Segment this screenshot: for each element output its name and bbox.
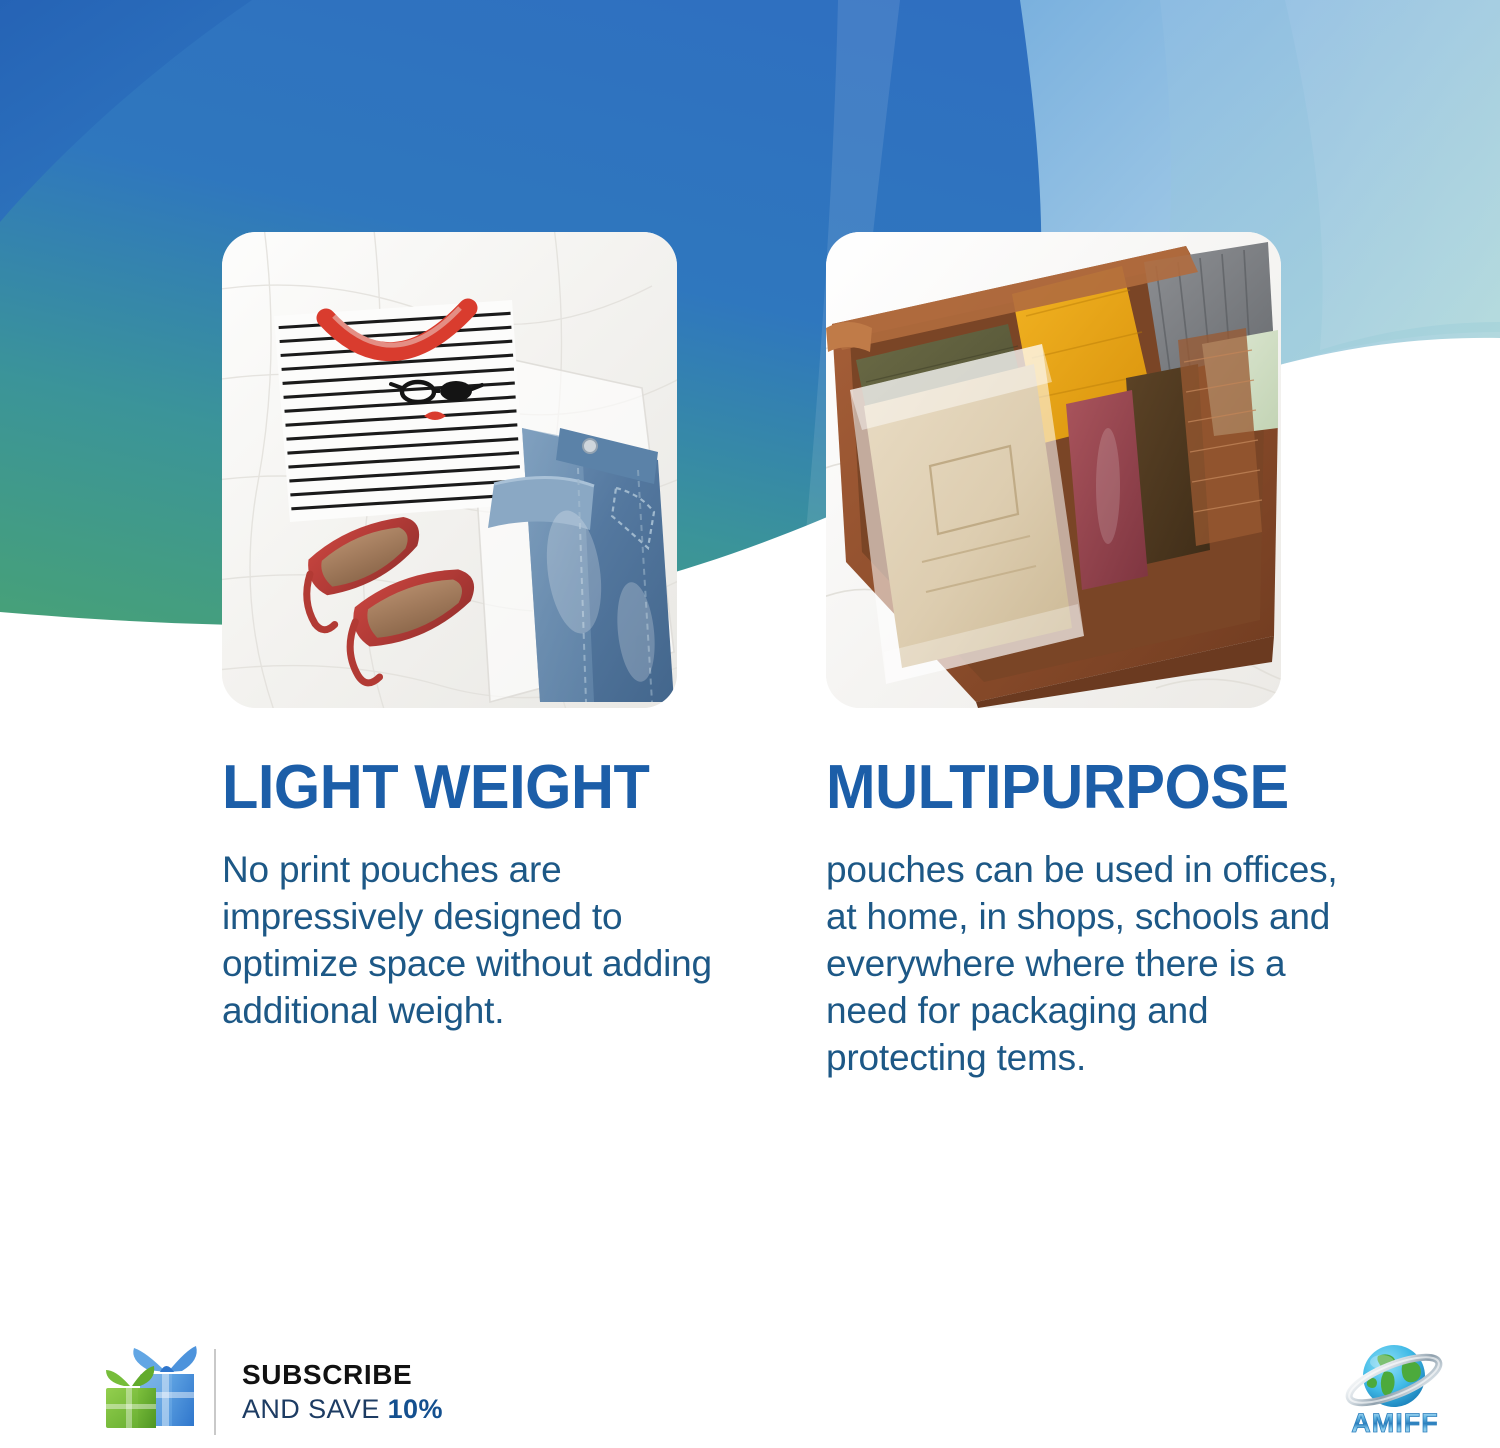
multipurpose-photo [826,232,1281,708]
subscribe-badge[interactable]: SUBSCRIBE AND SAVE 10% [96,1342,443,1442]
feature-body-multipurpose: pouches can be used in offices, at home,… [826,846,1366,1081]
gift-boxes-icon [96,1344,200,1440]
feature-title-multipurpose: MULTIPURPOSE [826,756,1344,820]
subscribe-discount-value: 10% [388,1394,443,1424]
brand-logo-text: AMIFF [1351,1408,1438,1438]
feature-block-light-weight: LIGHT WEIGHT No print pouches are impres… [222,756,722,1034]
subscribe-text: SUBSCRIBE AND SAVE 10% [242,1358,443,1426]
subscribe-save-label: AND SAVE 10% [242,1392,443,1426]
light-weight-photo [222,232,677,708]
subscribe-divider [214,1349,216,1435]
feature-block-multipurpose: MULTIPURPOSE pouches can be used in offi… [826,756,1366,1081]
footer-bar: SUBSCRIBE AND SAVE 10% [0,1336,1500,1448]
feature-body-light-weight: No print pouches are impressively design… [222,846,722,1034]
subscribe-save-prefix: AND SAVE [242,1394,388,1424]
subscribe-label: SUBSCRIBE [242,1358,443,1392]
infographic-canvas: LIGHT WEIGHT No print pouches are impres… [0,0,1500,1448]
feature-title-light-weight: LIGHT WEIGHT [222,756,702,820]
product-image-row [0,0,1500,740]
brand-logo: AMIFF [1334,1338,1456,1446]
